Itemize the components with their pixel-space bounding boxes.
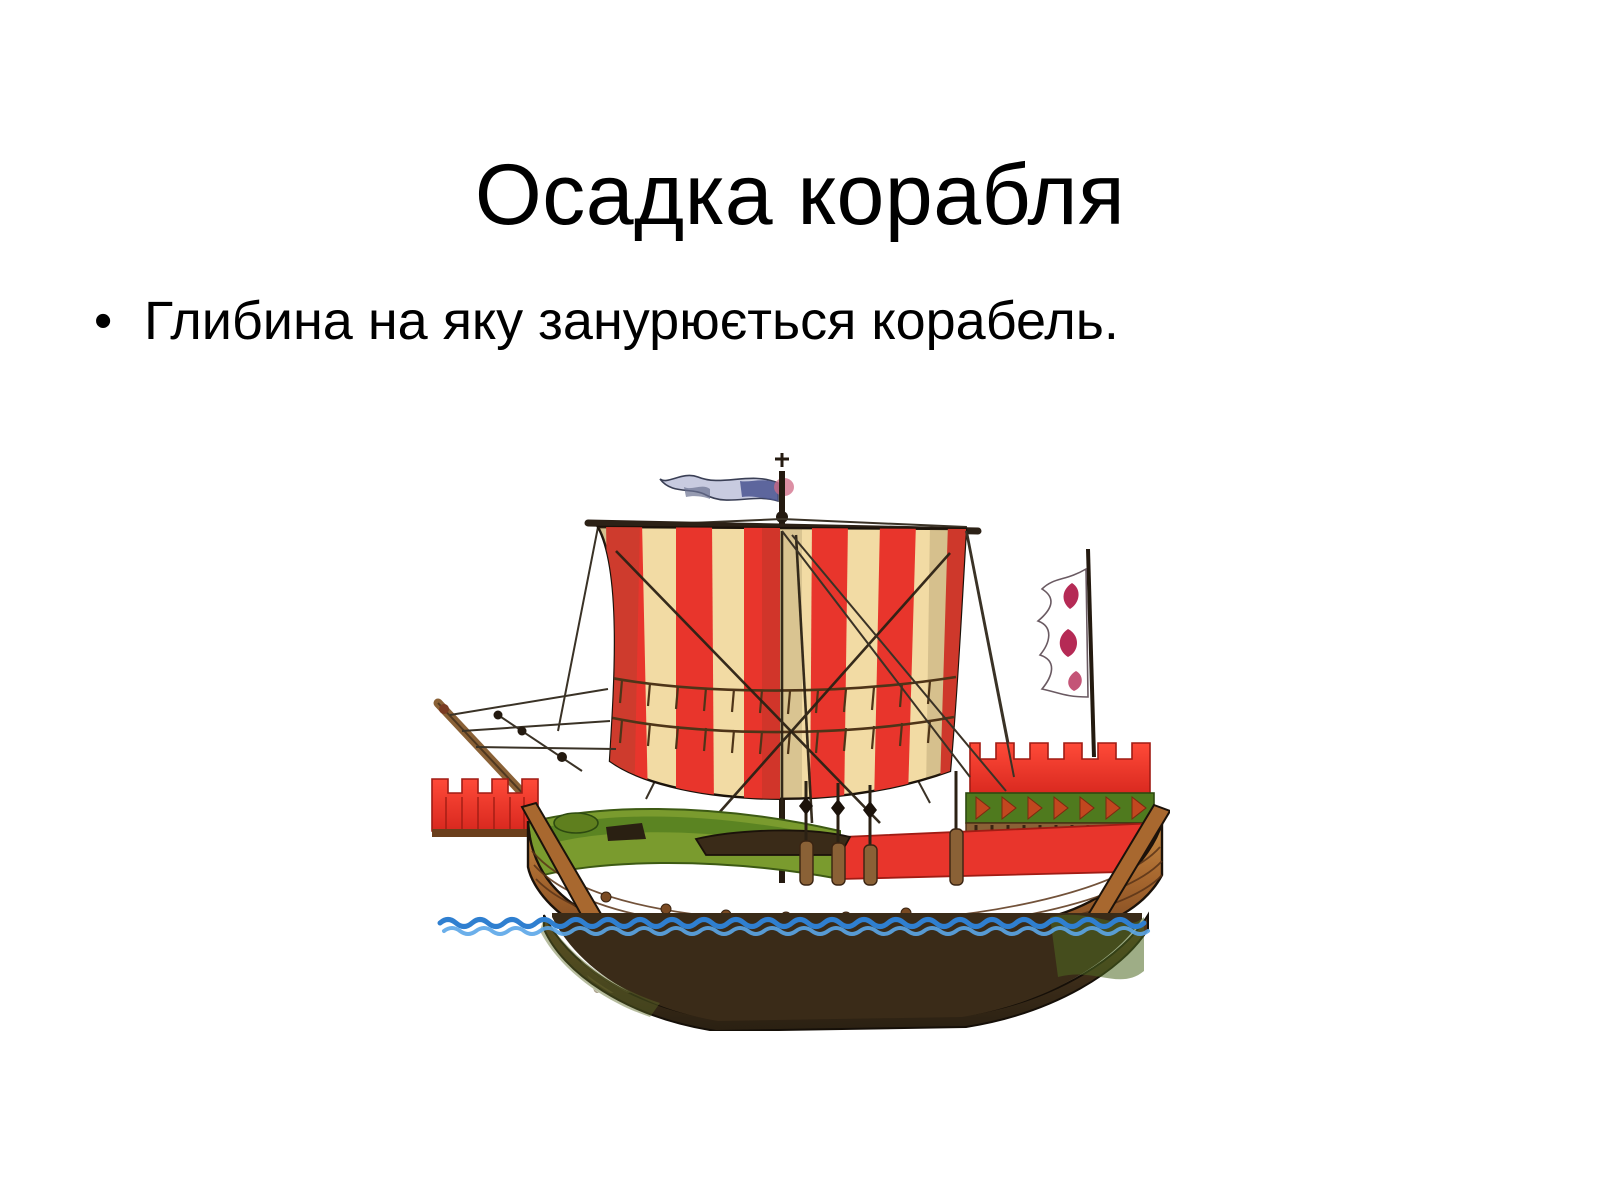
masthead-pennant-icon: [660, 453, 794, 501]
ship-illustration-svg: [410, 431, 1170, 1031]
bullet-marker-icon: •: [78, 288, 144, 354]
list-item: • Глибина на яку занурюється корабель.: [78, 288, 1538, 354]
stern-flag-icon: [1038, 549, 1094, 757]
ship-illustration: [410, 431, 1170, 1031]
page-title: Осадка корабля: [475, 150, 1125, 240]
slide-canvas: Осадка корабля • Глибина на яку занурюєт…: [0, 0, 1600, 1200]
bullet-text: Глибина на яку занурюється корабель.: [144, 288, 1538, 354]
content-placeholder: • Глибина на яку занурюється корабель.: [78, 288, 1538, 354]
square-sail: [598, 521, 978, 823]
title-placeholder: Осадка корабля: [0, 92, 1600, 298]
